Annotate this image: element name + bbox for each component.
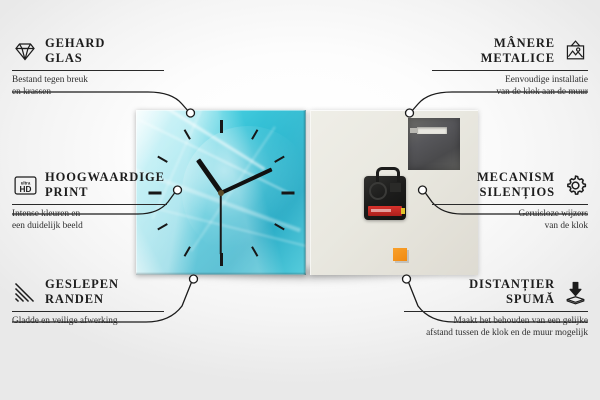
diamond-icon <box>12 38 38 64</box>
callout-rule <box>12 204 167 205</box>
mechanism-block <box>390 183 401 192</box>
callout-title: GEHARD GLAS <box>45 36 105 67</box>
callout-header: GEHARD GLAS <box>12 36 172 67</box>
callout-manere-metalice: MÂNERE METALICE Eenvoudige installatie v… <box>428 36 588 99</box>
callout-geslepen-randen: GESLEPEN RANDEN Gladde en veilige afwerk… <box>12 277 172 327</box>
callout-header: MÂNERE METALICE <box>428 36 588 67</box>
mechanism-dial <box>369 182 387 200</box>
callout-rule <box>12 311 164 312</box>
callout-description: Intense kleuren en een duidelijk beeld <box>12 208 174 234</box>
callout-header: MECANISM SILENȚIOS <box>428 170 588 201</box>
clock-mechanism-box <box>364 176 406 220</box>
callout-description: Maakt het behouden van een gelijke afsta… <box>400 315 588 341</box>
beveled-edges-icon <box>12 279 38 305</box>
callout-header: DISTANȚIER SPUMĂ <box>400 277 588 308</box>
callout-header: ultra HD HOOGWAARDIGE PRINT <box>12 170 174 201</box>
callout-description: Eenvoudige installatie van de klok aan d… <box>428 74 588 100</box>
callout-title: MÂNERE METALICE <box>481 36 555 67</box>
callout-title: HOOGWAARDIGE PRINT <box>45 170 165 201</box>
callout-rule <box>432 204 588 205</box>
svg-text:HD: HD <box>19 185 31 194</box>
infographic-canvas: GEHARD GLAS Bestand tegen breuk en krass… <box>0 0 600 400</box>
callout-title: DISTANȚIER SPUMĂ <box>469 277 555 308</box>
callout-description: Geruisloze wijzers van de klok <box>428 208 588 234</box>
callout-mecanism-silentios: MECANISM SILENȚIOS Geruisloze wijzers va… <box>428 170 588 233</box>
callout-description: Gladde en veilige afwerking <box>12 315 172 328</box>
metal-hanger-plate <box>408 118 460 170</box>
battery <box>368 206 402 216</box>
callout-title: GESLEPEN RANDEN <box>45 277 119 308</box>
callout-rule <box>404 311 588 312</box>
foam-spacer-square <box>393 248 407 261</box>
callout-rule <box>432 70 588 71</box>
glass-edge-bottom <box>136 272 306 275</box>
ultra-hd-icon: ultra HD <box>12 172 38 198</box>
hanging-loop <box>376 167 400 182</box>
callout-gehard-glas: GEHARD GLAS Bestand tegen breuk en krass… <box>12 36 172 99</box>
gear-icon <box>562 172 588 198</box>
glass-edge-right <box>303 110 306 275</box>
hanger-keyhole-slot <box>417 127 447 134</box>
picture-frame-hanging-icon <box>562 38 588 64</box>
callout-distantier-spuma: DISTANȚIER SPUMĂ Maakt het behouden van … <box>400 277 588 340</box>
callout-rule <box>12 70 164 71</box>
callout-description: Bestand tegen breuk en krassen <box>12 74 172 100</box>
callout-title: MECANISM SILENȚIOS <box>477 170 555 201</box>
callout-header: GESLEPEN RANDEN <box>12 277 172 308</box>
foam-spacer-icon <box>562 279 588 305</box>
callout-hoogwaardige-print: ultra HD HOOGWAARDIGE PRINT Intense kleu… <box>12 170 174 233</box>
